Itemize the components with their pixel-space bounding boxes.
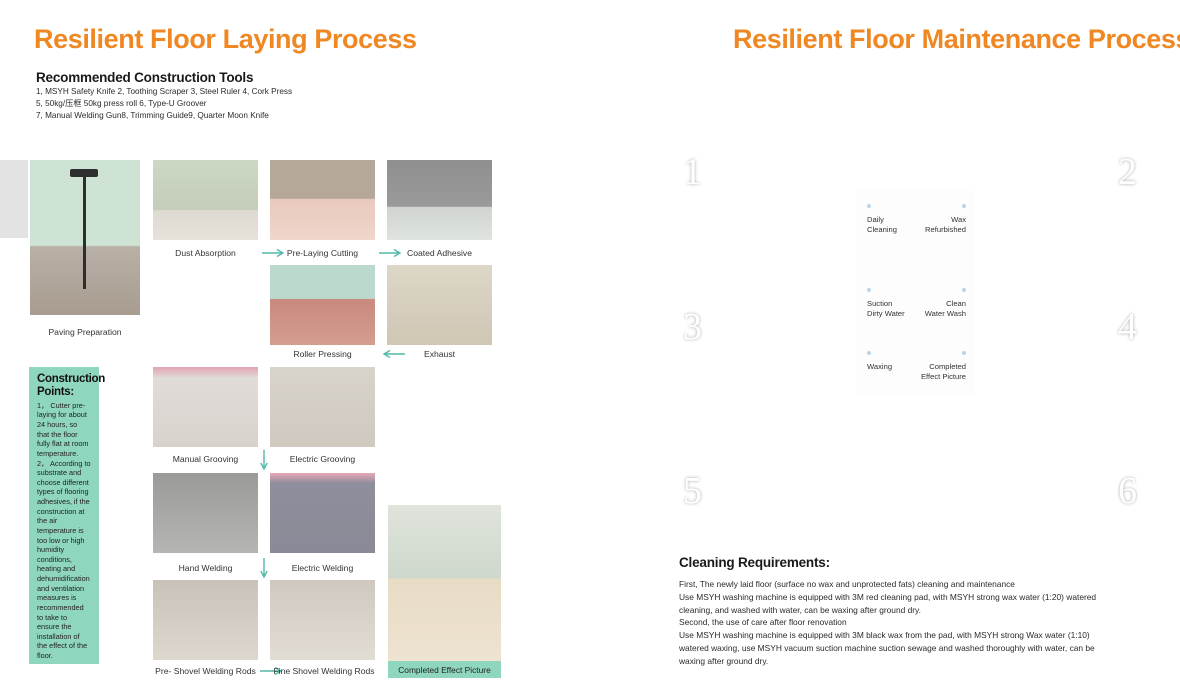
completed-effect-photo: 6 [914, 378, 1146, 512]
cleaning-requirements-heading: Cleaning Requirements: [679, 555, 830, 570]
paving-preparation-photo [30, 160, 140, 315]
overlay-label-line1: Wax [951, 215, 966, 224]
electric-grooving-photo [270, 367, 375, 447]
arrow-down-1 [259, 450, 269, 474]
caption-paving-preparation: Paving Preparation [30, 327, 140, 337]
overlay-label-line1: Daily [867, 215, 884, 224]
overlay-label-line2: Cleaning [867, 225, 897, 234]
cleaning-line: First, The newly laid floor (surface no … [679, 578, 1149, 591]
bullet-dot-icon [867, 204, 871, 208]
bullet-dot-icon [962, 288, 966, 292]
overlay-label-line1: Waxing [867, 362, 892, 371]
bullet-dot-icon [962, 204, 966, 208]
overlay-label-waxing: Waxing [867, 351, 919, 372]
photo-number-5: 5 [683, 472, 702, 510]
caption-exhaust: Exhaust [387, 349, 492, 359]
overlay-label-daily-cleaning: Daily Cleaning [867, 204, 919, 235]
cleaning-line: Use MSYH washing machine is equipped wit… [679, 591, 1149, 604]
caption-electric-grooving: Electric Grooving [270, 454, 375, 464]
overlay-label-line2: Effect Picture [921, 372, 966, 381]
recommended-tools-list: 1, MSYH Safety Knife 2, Toothing Scraper… [36, 86, 366, 122]
caption-pre-shovel-welding-rods: Pre- Shovel Welding Rods [143, 666, 268, 676]
cleaning-line: watered waxing, use MSYH vacuum suction … [679, 642, 1149, 655]
fine-shovel-welding-rods-photo [270, 580, 375, 660]
construction-points-body: 1， Cutter pre-laying for about 24 hours,… [37, 401, 91, 661]
caption-fine-shovel-welding-rods: Fine Shovel Welding Rods [264, 666, 384, 676]
overlay-label-line1: Clean [946, 299, 966, 308]
completed-effect-picture-left: Completed Effect Picture [388, 505, 501, 678]
overlay-label-clean-water-wash: Clean Water Wash [914, 288, 966, 319]
overlay-label-line2: Dirty Water [867, 309, 905, 318]
caption-electric-welding: Electric Welding [270, 563, 375, 573]
cleaning-line: waxing after ground dry. [679, 655, 1149, 668]
exhaust-photo [387, 265, 492, 345]
dust-absorption-photo [153, 160, 258, 240]
recommended-tools-heading: Recommended Construction Tools [36, 70, 253, 85]
cleaning-requirements-body: First, The newly laid floor (surface no … [679, 578, 1149, 667]
left-panel-title: Resilient Floor Laying Process [34, 24, 417, 55]
daily-cleaning-photo: 1 [676, 78, 908, 193]
cleaning-line: Use MSYH washing machine is equipped wit… [679, 629, 1149, 642]
manual-grooving-photo [153, 367, 258, 447]
poster-page: Resilient Floor Laying Process Recommend… [0, 0, 1180, 697]
tools-line: 1, MSYH Safety Knife 2, Toothing Scraper… [36, 86, 366, 98]
bullet-dot-icon [962, 351, 966, 355]
coated-adhesive-photo [387, 160, 492, 240]
bullet-dot-icon [867, 288, 871, 292]
pre-laying-cutting-photo [270, 160, 375, 240]
caption-dust-absorption: Dust Absorption [153, 248, 258, 258]
tools-line: 5, 50kg/压框 50kg press roll 6, Type-U Gro… [36, 98, 366, 110]
photo-number-2: 2 [1118, 153, 1137, 191]
photo-number-3: 3 [683, 308, 702, 346]
pre-shovel-welding-rods-photo [153, 580, 258, 660]
arrow-down-2 [259, 558, 269, 582]
overlay-label-line1: Suction [867, 299, 892, 308]
roller-pressing-photo [270, 265, 375, 345]
tools-line: 7, Manual Welding Gun8, Trimming Guide9,… [36, 110, 366, 122]
wax-refurbished-photo: 2 [914, 78, 1146, 193]
bullet-dot-icon [867, 351, 871, 355]
overlay-label-line1: Completed [929, 362, 966, 371]
photo-number-6: 6 [1118, 472, 1137, 510]
cleaning-line: Second, the use of care after floor reno… [679, 616, 1149, 629]
overlay-label-completed-effect-picture: Completed Effect Picture [914, 351, 966, 382]
maintenance-labels-overlay: Daily Cleaning Wax Refurbished Suction D… [857, 190, 974, 395]
cleaning-line: cleaning, and washed with water, can be … [679, 604, 1149, 617]
caption-roller-pressing: Roller Pressing [270, 349, 375, 359]
caption-pre-laying-cutting: Pre-Laying Cutting [270, 248, 375, 258]
overlay-label-wax-refurbished: Wax Refurbished [914, 204, 966, 235]
hand-welding-photo [153, 473, 258, 553]
right-panel-title: Resilient Floor Maintenance Process [733, 24, 1180, 55]
caption-completed-effect-picture: Completed Effect Picture [388, 661, 501, 678]
caption-coated-adhesive: Coated Adhesive [387, 248, 492, 258]
electric-welding-photo [270, 473, 375, 553]
caption-hand-welding: Hand Welding [153, 563, 258, 573]
overlay-label-line2: Water Wash [925, 309, 966, 318]
overlay-label-line2: Refurbished [925, 225, 966, 234]
photo-number-1: 1 [683, 153, 702, 191]
caption-manual-grooving: Manual Grooving [153, 454, 258, 464]
photo-number-4: 4 [1118, 308, 1137, 346]
construction-points-box: Construction Points: 1， Cutter pre-layin… [29, 367, 99, 664]
overlay-label-suction-dirty-water: Suction Dirty Water [867, 288, 919, 319]
left-gray-strip [0, 160, 28, 238]
construction-points-title: Construction Points: [37, 373, 91, 399]
